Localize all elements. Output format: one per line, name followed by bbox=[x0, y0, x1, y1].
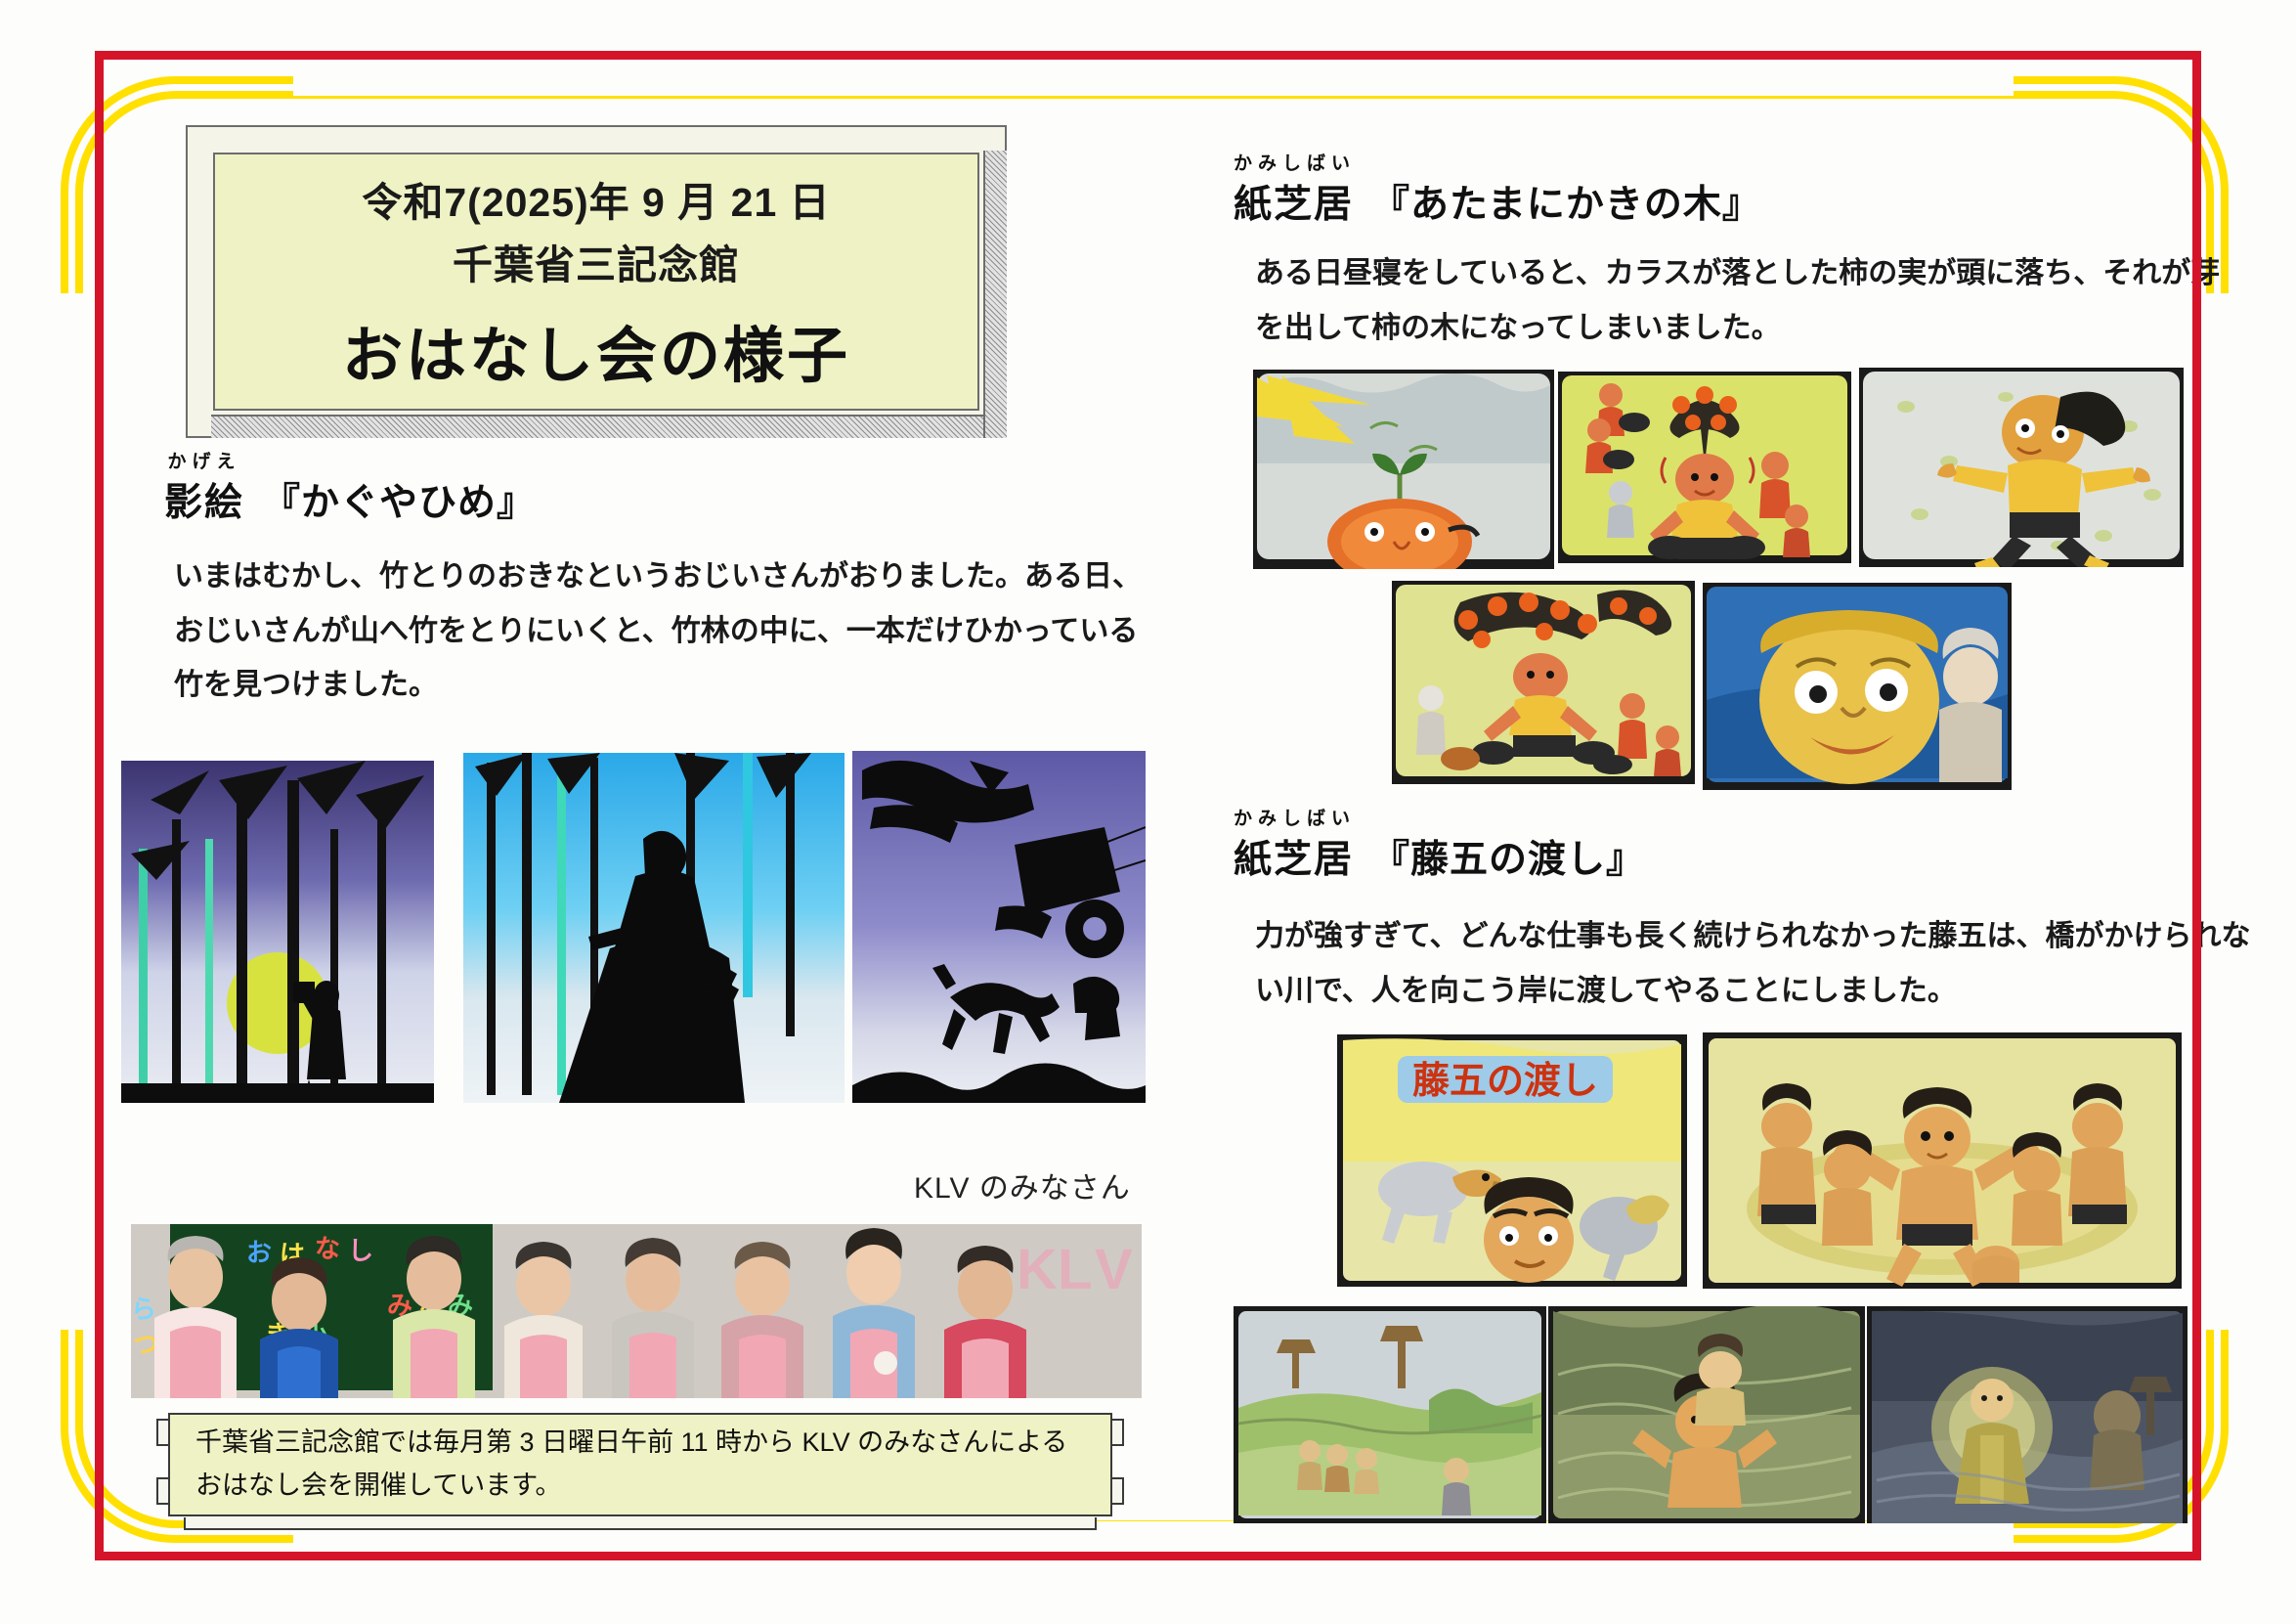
info-box-text: 千葉省三記念館では毎月第 3 日曜日午前 11 時から KLV のみなさんによる… bbox=[170, 1416, 1110, 1513]
frame-mask-left bbox=[59, 293, 104, 1330]
photo-kagee-1 bbox=[121, 761, 434, 1103]
info-box-notch-bottom-left bbox=[156, 1477, 170, 1505]
info-box-notch-top-left bbox=[156, 1419, 170, 1446]
svg-text:し: し bbox=[348, 1236, 373, 1265]
kanji-kamishibai-2: 紙芝居 bbox=[1234, 839, 1354, 881]
panel-artwork-title: 藤五の渡し bbox=[1412, 1061, 1598, 1102]
ruby-group-kamishibai-1: かみしばい 紙芝居 bbox=[1234, 174, 1354, 229]
svg-text:V: V bbox=[1095, 1238, 1133, 1301]
svg-text:お: お bbox=[246, 1238, 272, 1267]
info-box-panel: 千葉省三記念館では毎月第 3 日曜日午前 11 時から KLV のみなさんによる… bbox=[168, 1413, 1112, 1516]
kanji-kagee: 影絵 bbox=[164, 482, 244, 524]
page-title: おはなし会の様子 bbox=[342, 306, 850, 394]
furigana-kamishibai-2: かみしばい bbox=[1234, 804, 1354, 830]
ruby-group-kagee: かげえ 影絵 bbox=[164, 472, 244, 527]
kamishibai-tougo-cover-image: 藤五の渡し bbox=[1337, 1034, 1687, 1287]
info-box-notch-top-right bbox=[1110, 1419, 1124, 1446]
shadow-puppet-celestial-cart-image bbox=[852, 751, 1146, 1103]
paragraph-tougo: 力が強すぎて、どんな仕事も長く続けられなかった藤五は、橋がかけられない川で、人を… bbox=[1255, 909, 2252, 1018]
photo-tougo-5 bbox=[1867, 1306, 2188, 1523]
photo-tougo-1: 藤五の渡し bbox=[1337, 1034, 1687, 1287]
frame-mask-right bbox=[2193, 293, 2242, 1330]
photo-kaki-2 bbox=[1558, 372, 1851, 563]
plaque-date: 令和7(2025)年 9 月 21 日 bbox=[362, 169, 830, 228]
furigana-kagee: かげえ bbox=[164, 447, 244, 473]
shadow-puppet-princess-image bbox=[463, 753, 845, 1103]
photo-kaki-5 bbox=[1703, 583, 2012, 790]
story-title-tougonowatashi: 『藤五の渡し』 bbox=[1371, 839, 1645, 881]
plaque-bottom-bevel bbox=[211, 415, 1007, 438]
poster-page: 令和7(2025)年 9 月 21 日 千葉省三記念館 おはなし会の様子 かげえ… bbox=[0, 0, 2296, 1624]
paragraph-kagee: いまはむかし、竹とりのおきなというおじいさんがおりました。ある日、おじいさんが山… bbox=[174, 549, 1161, 713]
title-plaque: 令和7(2025)年 9 月 21 日 千葉省三記念館 おはなし会の様子 bbox=[186, 125, 1007, 438]
photo-kaki-4 bbox=[1392, 581, 1695, 784]
kanji-kamishibai-1: 紙芝居 bbox=[1234, 184, 1354, 226]
svg-text:L: L bbox=[1058, 1238, 1092, 1301]
photo-kaki-1 bbox=[1253, 370, 1554, 569]
kamishibai-running-man-image bbox=[1859, 368, 2184, 567]
shadow-puppet-bamboo-moon-image bbox=[121, 761, 434, 1103]
kamishibai-riverbank-travelers-image bbox=[1234, 1306, 1546, 1523]
heading-kamishibai-tougo: かみしばい 紙芝居 『藤五の渡し』 bbox=[1234, 829, 1645, 884]
heading-kagee: かげえ 影絵 『かぐやひめ』 bbox=[164, 472, 536, 527]
story-title-atamanikakinoki: 『あたまにかきの木』 bbox=[1371, 184, 1761, 226]
heading-kamishibai-kaki: かみしばい 紙芝居 『あたまにかきの木』 bbox=[1234, 174, 1761, 229]
klv-volunteers-group-image: お は な し み な み ぎ 小 ら つ bbox=[131, 1224, 1142, 1398]
frame-mask-top bbox=[293, 61, 2014, 96]
furigana-kamishibai-1: かみしばい bbox=[1234, 149, 1354, 175]
kamishibai-persimmon-harvest-image bbox=[1558, 372, 1851, 563]
info-scroll-box: 千葉省三記念館では毎月第 3 日曜日午前 11 時から KLV のみなさんによる… bbox=[156, 1413, 1124, 1530]
story-title-kaguyahime: 『かぐやひめ』 bbox=[262, 482, 536, 524]
photo-tougo-4 bbox=[1548, 1306, 1865, 1523]
svg-text:な: な bbox=[315, 1234, 340, 1263]
plaque-inner-panel: 令和7(2025)年 9 月 21 日 千葉省三記念館 おはなし会の様子 bbox=[213, 153, 979, 411]
plaque-venue: 千葉省三記念館 bbox=[453, 232, 740, 290]
kamishibai-sumo-match-image bbox=[1703, 1032, 2182, 1289]
svg-text:ら: ら bbox=[131, 1295, 156, 1324]
photo-kaki-3 bbox=[1859, 368, 2184, 567]
info-box-notch-bottom-right bbox=[1110, 1477, 1124, 1505]
photo-kagee-2 bbox=[463, 753, 845, 1103]
ruby-group-kamishibai-2: かみしばい 紙芝居 bbox=[1234, 829, 1354, 884]
kamishibai-carrying-across-river-image bbox=[1548, 1306, 1865, 1523]
photo-tougo-2 bbox=[1703, 1032, 2182, 1289]
photo-klv-group: お は な し み な み ぎ 小 ら つ bbox=[131, 1224, 1142, 1398]
kamishibai-villagers-picking-image bbox=[1392, 581, 1695, 784]
kamishibai-face-closeup-image bbox=[1703, 583, 2012, 790]
photo-kagee-3 bbox=[852, 751, 1146, 1103]
paragraph-kaki: ある日昼寝をしていると、カラスが落とした柿の実が頭に落ち、それが芽を出して柿の木… bbox=[1255, 246, 2232, 355]
svg-text:K: K bbox=[1017, 1238, 1058, 1301]
plaque-right-bevel bbox=[983, 151, 1007, 438]
kamishibai-sprout-head-image bbox=[1253, 370, 1554, 569]
info-box-underlayer bbox=[184, 1517, 1097, 1530]
klv-photo-caption: KLV のみなさん bbox=[914, 1163, 1131, 1207]
kamishibai-glowing-monk-image bbox=[1867, 1306, 2188, 1523]
photo-tougo-3 bbox=[1234, 1306, 1546, 1523]
